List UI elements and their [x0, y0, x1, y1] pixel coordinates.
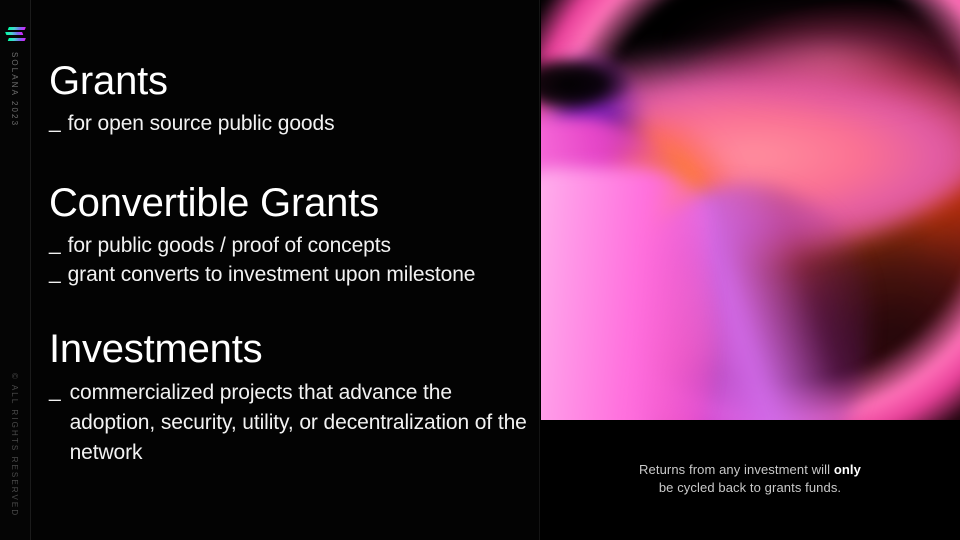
section-heading: Grants [49, 60, 334, 103]
bullet-text: grant converts to investment upon milest… [68, 261, 476, 289]
bullet-marker: _ [49, 230, 61, 258]
caption-emphasis: only [834, 462, 861, 477]
rail-brand-text: SOLANA 2023 [10, 52, 19, 127]
bullet-item: _ grant converts to investment upon mile… [49, 261, 475, 289]
bullet-marker: _ [49, 376, 61, 406]
caption: Returns from any investment will only be… [540, 461, 960, 498]
section-heading: Investments [49, 328, 532, 371]
abstract-gradient-image [541, 0, 960, 420]
right-panel: Returns from any investment will only be… [540, 0, 960, 540]
caption-line-1: Returns from any investment will only [540, 461, 960, 479]
section-convertible-grants: Convertible Grants _ for public goods / … [49, 182, 475, 289]
caption-line-2: be cycled back to grants funds. [540, 479, 960, 497]
caption-line-1-text: Returns from any investment will [639, 462, 834, 477]
bullet-list: _ commercialized projects that advance t… [49, 378, 532, 467]
bullet-text: for open source public goods [68, 110, 335, 138]
section-investments: Investments _ commercialized projects th… [49, 328, 532, 468]
left-rail: SOLANA 2023 © ALL RIGHTS RESERVED [0, 0, 31, 540]
bullet-list: _ for open source public goods [49, 110, 334, 138]
bullet-item: _ commercialized projects that advance t… [49, 378, 532, 467]
slide: SOLANA 2023 © ALL RIGHTS RESERVED Grants… [0, 0, 960, 540]
section-heading: Convertible Grants [49, 182, 475, 225]
rail-brand-label: SOLANA 2023 [0, 52, 31, 61]
content-column: Grants _ for open source public goods Co… [31, 0, 540, 540]
bullet-list: _ for public goods / proof of concepts _… [49, 232, 475, 289]
section-grants: Grants _ for open source public goods [49, 60, 334, 138]
bullet-text: commercialized projects that advance the… [70, 378, 532, 467]
bullet-text: for public goods / proof of concepts [68, 232, 391, 260]
bullet-marker: _ [49, 259, 61, 287]
bullet-marker: _ [49, 108, 61, 136]
rail-rights-label: © ALL RIGHTS RESERVED [0, 373, 31, 382]
rail-rights-text: © ALL RIGHTS RESERVED [10, 373, 19, 517]
bullet-item: _ for public goods / proof of concepts [49, 232, 475, 260]
solana-logo-icon [7, 27, 24, 41]
bullet-item: _ for open source public goods [49, 110, 334, 138]
